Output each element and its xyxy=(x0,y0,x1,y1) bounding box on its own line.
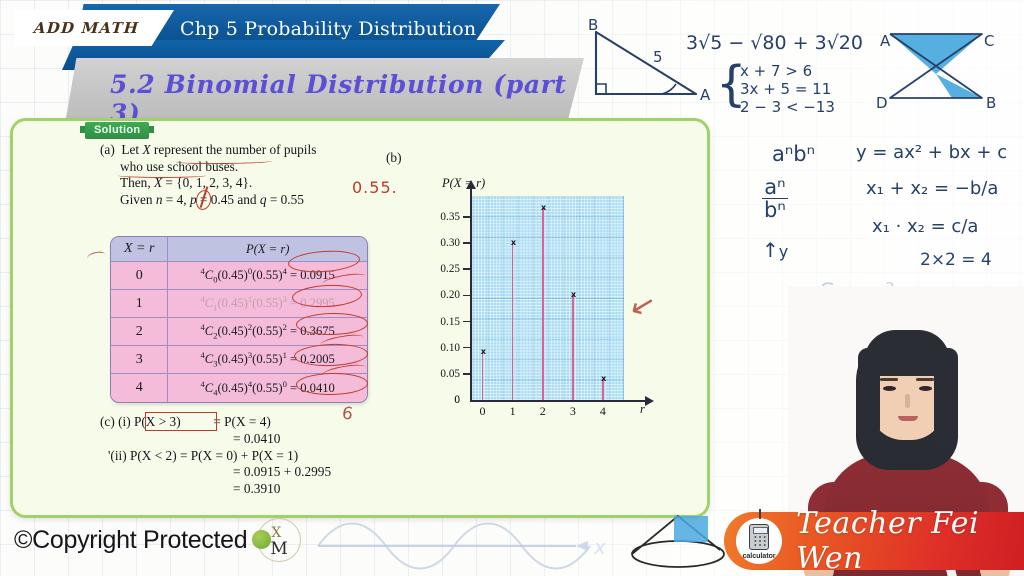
table-cell-r: 3 xyxy=(111,346,168,374)
power-fraction-numerator: aⁿ xyxy=(762,176,788,199)
graph-y-tick-label: 0.10 xyxy=(440,342,460,354)
part-c-i-line1: = P(X = 4) xyxy=(213,414,270,429)
part-c-i-line2: = 0.0410 xyxy=(100,431,331,448)
graph-x-tick-label: 0 xyxy=(480,404,486,419)
graph-y-tick-label: 0.05 xyxy=(440,368,460,380)
graph-y-tick-label: 0.35 xyxy=(440,211,460,223)
probability-table: X = r P(X = r) 04C0(0.45)0(0.55)4 = 0.09… xyxy=(110,236,368,403)
triangle-side-5: 5 xyxy=(653,48,663,66)
graph-plot-area xyxy=(472,196,624,400)
bowtie-label-b: B xyxy=(986,94,996,112)
sum-of-roots: x₁ + x₂ = −b/a xyxy=(866,178,998,199)
graph-y-tick xyxy=(463,373,470,375)
presenter-brow-left xyxy=(880,378,898,381)
graph-y-tick-label: 0.25 xyxy=(440,263,460,275)
solution-line-2: who use school buses. xyxy=(100,159,390,176)
presenter-brow-right xyxy=(916,378,934,381)
graph-y-tick-label: 0.15 xyxy=(440,316,460,328)
graph-data-point: x xyxy=(571,292,577,298)
graph-y-axis xyxy=(470,188,472,402)
probability-graph: P(X = r) 00.050.100.150.200.250.300.350 … xyxy=(432,178,652,440)
bowtie-sketch xyxy=(878,18,998,110)
presenter-mouth xyxy=(898,416,918,421)
calculator-badge: calculator xyxy=(736,518,782,564)
copyright-notice: ©Copyright Protected X M xyxy=(14,518,301,562)
part-c-ii-line2: = 0.3910 xyxy=(100,481,331,498)
table-header-row: X = r P(X = r) xyxy=(111,237,367,262)
part-c-ii-label: '(ii) xyxy=(100,448,127,463)
graph-y-tick xyxy=(463,347,470,349)
graph-spike xyxy=(572,295,574,400)
watermark-logo: X M xyxy=(257,518,301,562)
part-c-i-label: (c) (i) xyxy=(100,414,131,429)
pen-box-probability-gt3 xyxy=(145,412,217,431)
surd-expression: 3√5 − √80 + 3√20 xyxy=(686,32,863,54)
system-line-1: x + 7 > 6 xyxy=(740,62,812,80)
bowtie-label-a: A xyxy=(880,32,890,50)
presenter-eye-right xyxy=(919,386,932,391)
table-header-p: P(X = r) xyxy=(168,237,367,262)
powers-expression: aⁿbⁿ xyxy=(772,142,815,166)
part-c-ii-line1: = 0.0915 + 0.2995 xyxy=(100,464,331,481)
graph-data-point: x xyxy=(480,349,486,355)
presenter-hair-top xyxy=(864,330,950,376)
screen-canvas: B A 5 3√5 − √80 + 3√20 { x + 7 > 6 3x + … xyxy=(0,0,1024,576)
triangle-label-a: A xyxy=(700,86,710,104)
graph-y-ticks: 00.050.100.150.200.250.300.350 xyxy=(432,178,470,418)
graph-y-tick xyxy=(463,321,470,323)
table-cell-r: 0 xyxy=(111,262,168,290)
calculator-icon xyxy=(749,524,769,550)
graph-data-point: x xyxy=(510,240,516,246)
table-cell-r: 2 xyxy=(111,318,168,346)
y-axis-arrow-sketch: ↑y xyxy=(762,238,788,262)
part-c-ii-expr: P(X < 2) = P(X = 0) + P(X = 1) xyxy=(130,448,298,463)
subject-badge: ADD MATH xyxy=(14,10,174,46)
graph-x-tick-label: 4 xyxy=(600,404,606,419)
title-banner: ADD MATH Chp 5 Probability Distribution … xyxy=(0,0,600,128)
graph-y-tick xyxy=(463,216,470,218)
bowtie-label-c: C xyxy=(984,32,994,50)
graph-data-point: x xyxy=(541,205,547,211)
graph-y-tick-label: 0.20 xyxy=(440,289,460,301)
copyright-text: ©Copyright Protected xyxy=(14,526,247,555)
chapter-title: Chp 5 Probability Distribution xyxy=(180,18,510,40)
graph-spike xyxy=(482,352,484,400)
table-header-r: X = r xyxy=(111,237,168,262)
subject-badge-label: ADD MATH xyxy=(34,19,154,37)
part-c-ii-line: '(ii) P(X < 2) = P(X = 0) + P(X = 1) xyxy=(100,448,331,465)
svg-text:x: x xyxy=(593,535,606,559)
solution-line-1: (a) Let X represent the number of pupils xyxy=(100,142,390,159)
graph-data-point: x xyxy=(601,376,607,382)
system-line-3: 2 − 3 < −13 xyxy=(740,98,835,116)
graph-x-axis xyxy=(470,400,646,402)
bowtie-label-d: D xyxy=(876,94,888,112)
table-row: 44C4(0.45)4(0.55)0 = 0.0410 xyxy=(111,374,367,402)
graph-y-tick-label: 0.30 xyxy=(440,237,460,249)
quadratic-formula: y = ax² + bx + c xyxy=(856,142,1007,163)
graph-y-tick xyxy=(463,268,470,270)
triangle-label-b: B xyxy=(588,16,598,34)
graph-x-tick-label: 2 xyxy=(540,404,546,419)
solution-line-3: Then, X = {0, 1, 2, 3, 4}. xyxy=(100,175,390,192)
cone-sketch xyxy=(620,510,730,576)
brand-name: Teacher Fei Wen xyxy=(796,506,1024,576)
watermark-dot-icon xyxy=(252,530,271,549)
table-row: 14C1(0.45)1(0.55)3 = 0.2995 xyxy=(111,290,367,318)
calculator-antenna xyxy=(759,509,761,519)
watermark-letter-m: M xyxy=(270,539,287,559)
table-cell-probability: 4C4(0.45)4(0.55)0 = 0.0410 xyxy=(168,374,367,402)
graph-origin-label: 0 xyxy=(454,394,460,406)
graph-y-tick xyxy=(463,242,470,244)
pen-note-q-value: 0.55. xyxy=(352,178,398,197)
graph-y-tick xyxy=(463,295,470,297)
part-b-label: (b) xyxy=(386,150,402,166)
presenter-eye-left xyxy=(883,386,896,391)
solution-line-4: Given n = 4, p = 0.45 and q = 0.55 xyxy=(100,192,390,209)
presenter-nose xyxy=(905,394,910,408)
graph-x-tick-label: 1 xyxy=(510,404,516,419)
system-line-2: 3x + 5 = 11 xyxy=(740,80,831,98)
graph-x-tick-label: 3 xyxy=(570,404,576,419)
power-fraction: aⁿ bⁿ xyxy=(762,176,788,221)
calculator-label: calculator xyxy=(743,551,776,560)
arithmetic-note: 2×2 = 4 xyxy=(920,250,992,270)
solution-tab: Solution xyxy=(85,122,149,139)
y-arrow-label: y xyxy=(779,242,788,261)
graph-x-axis-label: r xyxy=(640,402,645,417)
graph-spike xyxy=(512,243,514,400)
brand-pill: calculator Teacher Fei Wen xyxy=(724,512,1024,570)
graph-spike xyxy=(542,208,544,400)
product-of-roots: x₁ · x₂ = c/a xyxy=(872,216,978,237)
table-cell-r: 4 xyxy=(111,374,168,402)
table-cell-probability: 4C1(0.45)1(0.55)3 = 0.2995 xyxy=(168,290,367,318)
solution-part-a: (a) Let X represent the number of pupils… xyxy=(100,142,390,208)
table-cell-r: 1 xyxy=(111,290,168,318)
power-fraction-denominator: bⁿ xyxy=(762,199,788,221)
